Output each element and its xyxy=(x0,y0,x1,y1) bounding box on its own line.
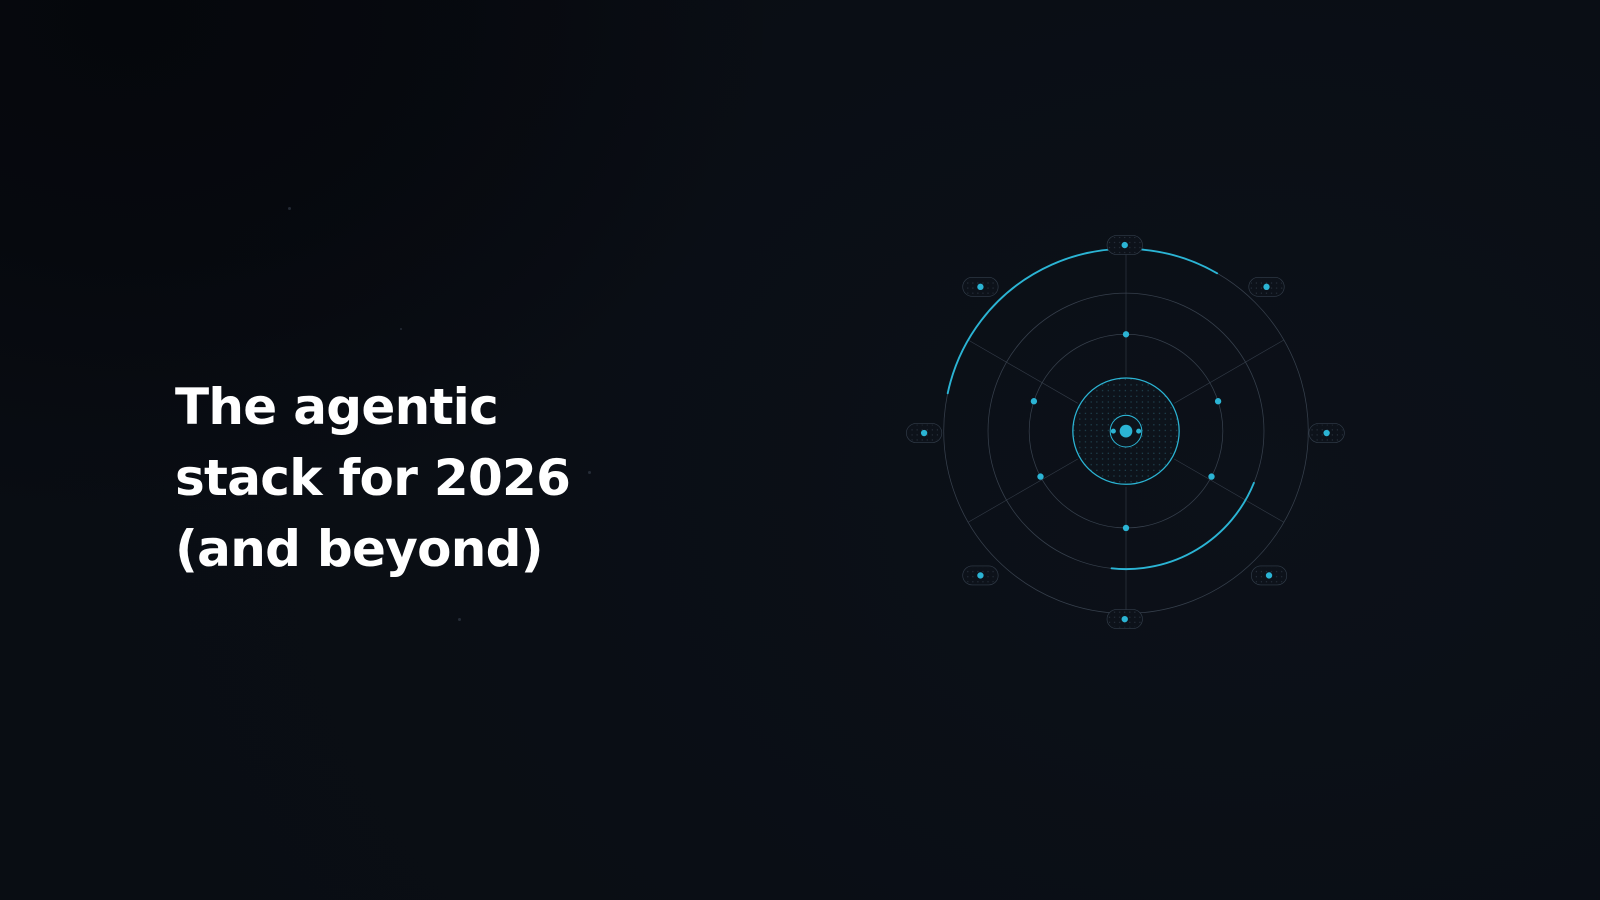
page-title-line-1: The agentic xyxy=(175,372,735,443)
orbit-dot-ring2-nw xyxy=(1031,398,1037,404)
badge-e-status-dot xyxy=(1323,430,1329,436)
arc-outer-topleft xyxy=(948,249,1217,393)
core-satellite-left-icon xyxy=(1111,429,1116,434)
hero-canvas: The agentic stack for 2026 (and beyond) xyxy=(0,0,1600,900)
badge-ne[interactable] xyxy=(1249,277,1284,296)
badge-ne-status-dot xyxy=(1263,284,1269,290)
orbit-dot-ring2-n xyxy=(1123,331,1129,337)
badge-se-status-dot xyxy=(1266,572,1272,578)
badge-nw[interactable] xyxy=(963,277,998,296)
page-title-line-3: (and beyond) xyxy=(175,514,735,585)
background-star-4 xyxy=(458,618,461,621)
badge-n[interactable] xyxy=(1107,236,1142,255)
orbit-dot-ring2-ne xyxy=(1215,398,1221,404)
badge-n-status-dot xyxy=(1122,242,1128,248)
core-center-dot xyxy=(1120,425,1133,438)
badge-w-status-dot xyxy=(921,430,927,436)
badge-sw[interactable] xyxy=(963,566,998,585)
orbit-dot-ring2-se xyxy=(1208,473,1214,479)
spoke-ne xyxy=(1174,340,1284,403)
spoke-sw xyxy=(968,459,1078,522)
page-title-line-2: stack for 2026 xyxy=(175,443,735,514)
orbit-dot-ring2-s xyxy=(1123,525,1129,531)
badge-s-status-dot xyxy=(1122,616,1128,622)
core-node[interactable] xyxy=(1073,378,1179,484)
page-title: The agentic stack for 2026 (and beyond) xyxy=(175,372,735,585)
background-star-2 xyxy=(400,328,402,330)
spoke-se xyxy=(1174,459,1284,522)
badge-e[interactable] xyxy=(1309,424,1344,443)
orbit-dot-ring2-sw xyxy=(1037,473,1043,479)
badge-w[interactable] xyxy=(906,424,941,443)
badge-nw-status-dot xyxy=(977,284,983,290)
core-satellite-right-icon xyxy=(1136,429,1141,434)
agentic-orbit-diagram xyxy=(826,140,1426,740)
spoke-nw xyxy=(968,340,1078,403)
background-star-1 xyxy=(288,207,291,210)
badge-se[interactable] xyxy=(1251,566,1286,585)
arc-third-bottomright xyxy=(1112,483,1254,569)
badge-sw-status-dot xyxy=(977,572,983,578)
badge-s[interactable] xyxy=(1107,610,1142,629)
orbit-svg xyxy=(826,140,1426,740)
